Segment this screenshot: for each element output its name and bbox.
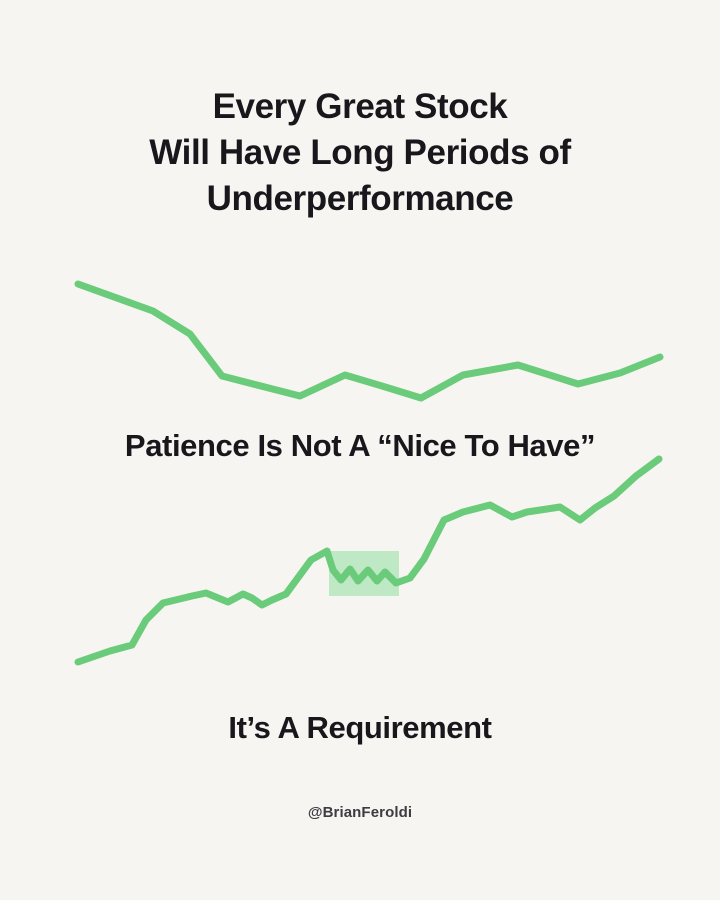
- page-title: Every Great Stock Will Have Long Periods…: [0, 84, 720, 223]
- upper-chart-line: [78, 284, 660, 398]
- lower-chart-line: [78, 459, 659, 662]
- author-handle: @BrianFeroldi: [0, 804, 720, 821]
- underperformance-highlight-box: [329, 551, 399, 596]
- poster-canvas: Every Great Stock Will Have Long Periods…: [0, 0, 720, 900]
- mid-caption: Patience Is Not A “Nice To Have”: [0, 427, 720, 464]
- bottom-caption: It’s A Requirement: [0, 709, 720, 746]
